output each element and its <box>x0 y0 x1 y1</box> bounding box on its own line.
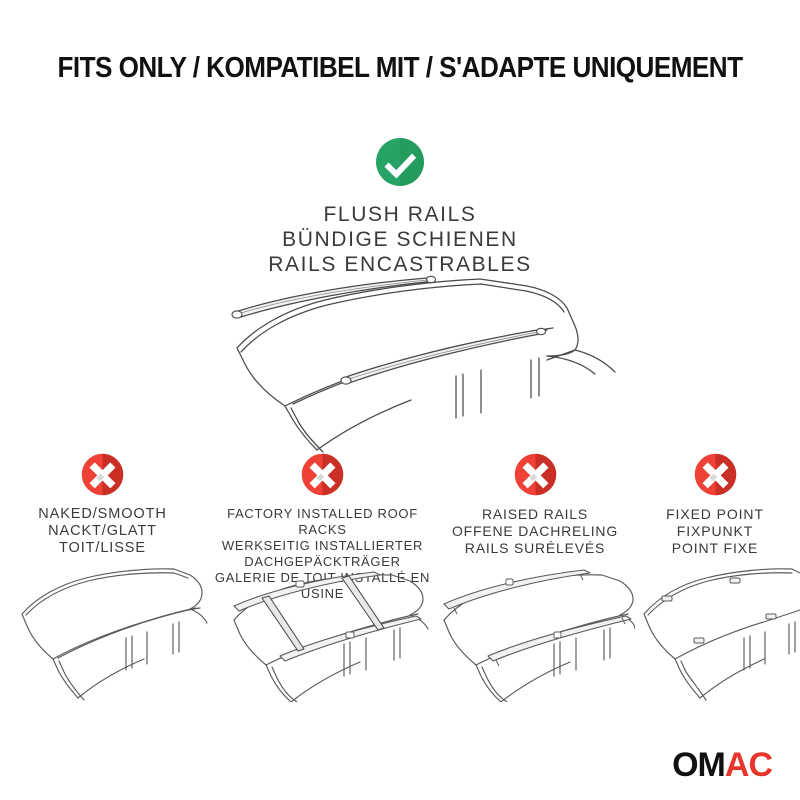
car-roof-fixed-point-illustration <box>632 552 800 702</box>
logo-text-part1: OM <box>672 746 725 784</box>
item-labels: FIXED POINT FIXPUNKT POINT FIXE <box>630 506 800 557</box>
item-label-de: FIXPUNKT <box>630 523 800 540</box>
red-x-circle-icon <box>300 452 345 497</box>
omac-logo: OMAC <box>672 748 772 782</box>
compatible-labels: FLUSH RAILS BÜNDIGE SCHIENEN RAILS ENCAS… <box>0 202 800 277</box>
item-label-en: FIXED POINT <box>630 506 800 523</box>
item-labels: NAKED/SMOOTH NACKT/GLATT TOIT/LISSE <box>0 506 205 557</box>
green-check-circle-icon <box>374 136 426 188</box>
item-label-de: OFFENE DACHRELING <box>440 523 630 540</box>
car-roof-naked-smooth-illustration <box>8 552 208 702</box>
header: FITS ONLY / KOMPATIBEL MIT / S'ADAPTE UN… <box>0 52 800 85</box>
red-x-circle-icon <box>513 452 558 497</box>
item-label-en: NAKED/SMOOTH <box>0 506 205 523</box>
compatible-section: FLUSH RAILS BÜNDIGE SCHIENEN RAILS ENCAS… <box>0 136 800 277</box>
red-x-circle-icon <box>693 452 738 497</box>
item-label-en: FACTORY INSTALLED ROOF RACKS <box>205 506 440 538</box>
fitment-infographic: FITS ONLY / KOMPATIBEL MIT / S'ADAPTE UN… <box>0 0 800 800</box>
red-x-circle-icon <box>80 452 125 497</box>
page-title: FITS ONLY / KOMPATIBEL MIT / S'ADAPTE UN… <box>40 52 760 85</box>
compatible-label-de: BÜNDIGE SCHIENEN <box>0 227 800 252</box>
item-label-de: NACKT/GLATT <box>0 523 205 540</box>
roof-illustrations-row <box>0 552 800 712</box>
logo-text-part2: AC <box>725 746 772 784</box>
car-roof-factory-roof-rack-illustration <box>218 552 433 702</box>
car-roof-raised-rails-illustration <box>430 552 635 702</box>
item-labels: RAISED RAILS OFFENE DACHRELING RAILS SUR… <box>440 506 630 557</box>
item-label-en: RAISED RAILS <box>440 506 630 523</box>
compatible-label-en: FLUSH RAILS <box>0 202 800 227</box>
car-roof-flush-rails-illustration <box>175 268 635 453</box>
